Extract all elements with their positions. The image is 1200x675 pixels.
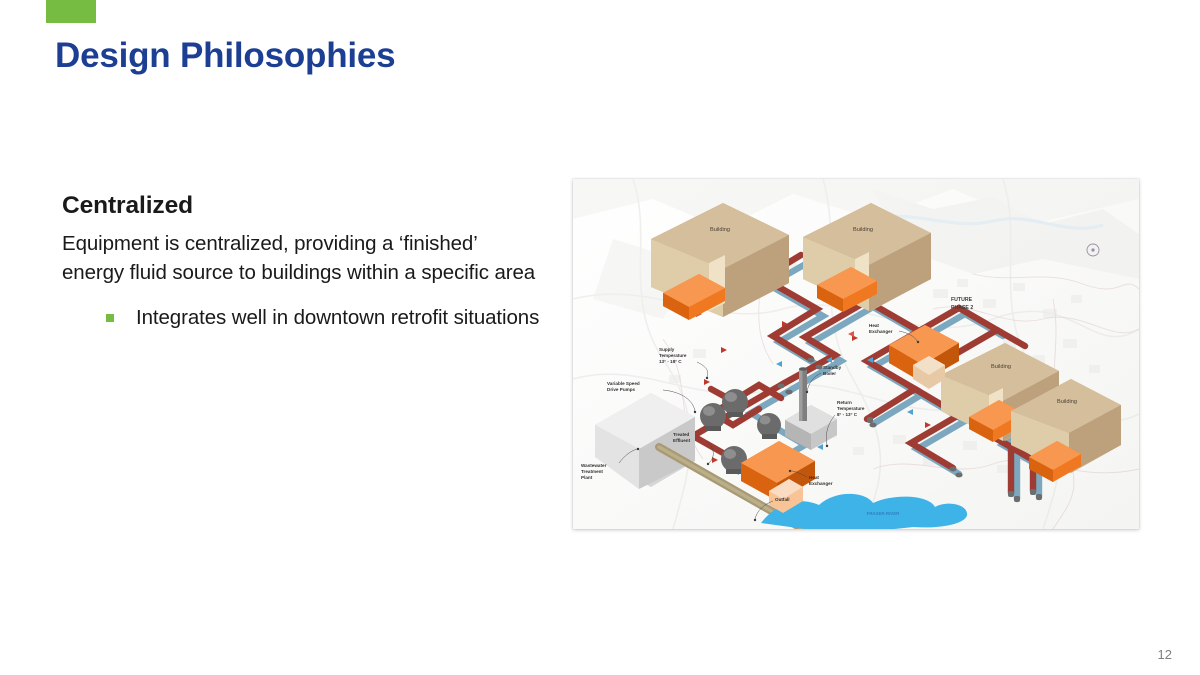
svg-text:Treatment: Treatment xyxy=(581,469,603,474)
svg-text:Standby: Standby xyxy=(823,365,842,370)
building-3-label: Building xyxy=(991,364,1011,370)
bullet-square-icon xyxy=(106,314,114,322)
slide-canvas: Design Philosophies Centralized Equipmen… xyxy=(0,0,1200,675)
svg-text:PHASE 2: PHASE 2 xyxy=(951,305,973,311)
list-item: Integrates well in downtown retrofit sit… xyxy=(106,303,540,332)
svg-text:FUTURE: FUTURE xyxy=(951,297,973,303)
accent-square xyxy=(46,0,96,23)
svg-text:Drive Pumps: Drive Pumps xyxy=(607,387,636,392)
svg-text:Exchanger: Exchanger xyxy=(869,329,893,334)
diagram-svg: Building Building xyxy=(573,179,1139,529)
section-paragraph: Equipment is centralized, providing a ‘f… xyxy=(62,229,540,287)
svg-text:Return: Return xyxy=(837,400,852,405)
svg-text:Variable Speed: Variable Speed xyxy=(607,381,640,386)
svg-text:Temperature: Temperature xyxy=(659,353,687,358)
page-number: 12 xyxy=(1158,647,1172,662)
svg-text:Exchanger: Exchanger xyxy=(809,481,833,486)
district-energy-diagram: Building Building xyxy=(573,179,1139,529)
building-1-label: Building xyxy=(710,227,730,233)
svg-text:8° - 13° C: 8° - 13° C xyxy=(837,412,858,417)
svg-text:Plant: Plant xyxy=(581,475,593,480)
svg-text:Heat: Heat xyxy=(869,323,879,328)
svg-text:Wastewater: Wastewater xyxy=(581,463,607,468)
svg-text:Effluent: Effluent xyxy=(673,438,691,443)
building-2-label: Building xyxy=(853,227,873,233)
building-4-label: Building xyxy=(1057,399,1077,405)
svg-text:Outfall: Outfall xyxy=(775,497,790,502)
svg-text:Temperature: Temperature xyxy=(837,406,865,411)
svg-text:Treated: Treated xyxy=(673,432,690,437)
water-body-label: FRASER RIVER xyxy=(867,511,901,516)
svg-text:13° - 18° C: 13° - 18° C xyxy=(659,359,682,364)
sub-bullet-list: Integrates well in downtown retrofit sit… xyxy=(62,303,540,332)
page-title: Design Philosophies xyxy=(55,36,395,76)
svg-text:Boiler: Boiler xyxy=(823,371,836,376)
list-item-label: Integrates well in downtown retrofit sit… xyxy=(136,306,539,329)
svg-text:Supply: Supply xyxy=(659,347,675,352)
svg-text:Heat: Heat xyxy=(809,475,819,480)
section-heading: Centralized xyxy=(62,192,540,220)
content-column: Centralized Equipment is centralized, pr… xyxy=(62,192,540,332)
